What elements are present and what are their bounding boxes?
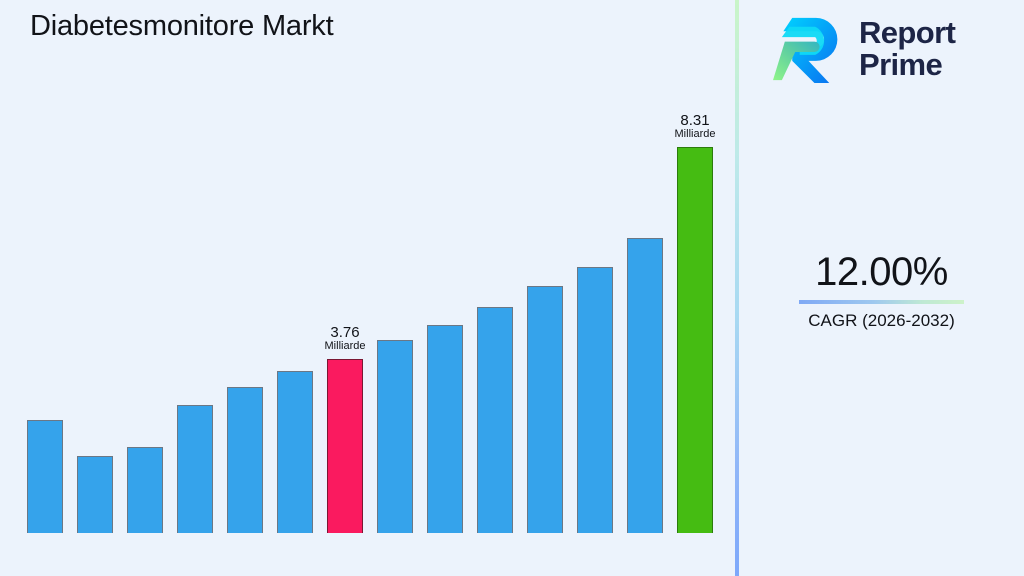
- bar-2023[interactable]: [277, 371, 313, 533]
- bar-slot-2028: [520, 120, 570, 533]
- chart-infographic: Diabetesmonitore Markt 3.76Milliarde8.31…: [0, 0, 1024, 576]
- bar-2018[interactable]: [27, 420, 63, 533]
- brand-name-line2: Prime: [859, 49, 955, 81]
- cagr-caption: CAGR (2026-2032): [739, 311, 1024, 331]
- bar-2029[interactable]: [577, 267, 613, 533]
- brand-panel: Report Prime 12.00% CAGR (2026-2032): [739, 0, 1024, 576]
- bar-label-unit-2024: Milliarde: [320, 341, 370, 353]
- bar-slot-2021: [170, 120, 220, 533]
- report-prime-logo-icon: [773, 12, 847, 86]
- bar-label-value-2024: 3.76: [320, 325, 370, 341]
- bar-slot-2023: [270, 120, 320, 533]
- bar-label-2031: 8.31Milliarde: [670, 113, 720, 141]
- bar-2027[interactable]: [477, 307, 513, 533]
- bar-label-unit-2031: Milliarde: [670, 129, 720, 141]
- bar-2022[interactable]: [227, 387, 263, 533]
- bar-2024[interactable]: [327, 359, 363, 533]
- bar-2026[interactable]: [427, 325, 463, 533]
- bar-slot-2019: [70, 120, 120, 533]
- brand-name: Report Prime: [859, 17, 955, 80]
- bar-slot-2030: [620, 120, 670, 533]
- bar-slot-2026: [420, 120, 470, 533]
- bar-slot-2031: 8.31Milliarde: [670, 120, 720, 533]
- bar-2021[interactable]: [177, 405, 213, 533]
- bar-2019[interactable]: [77, 456, 113, 533]
- bar-2028[interactable]: [527, 286, 563, 533]
- bar-2025[interactable]: [377, 340, 413, 533]
- brand-logo: Report Prime: [773, 12, 955, 86]
- cagr-block: 12.00% CAGR (2026-2032): [739, 250, 1024, 331]
- bars-container: 3.76Milliarde8.31Milliarde: [20, 120, 722, 533]
- bar-2030[interactable]: [627, 238, 663, 533]
- bar-slot-2024: 3.76Milliarde: [320, 120, 370, 533]
- bar-label-2024: 3.76Milliarde: [320, 325, 370, 353]
- bar-label-value-2031: 8.31: [670, 113, 720, 129]
- bar-slot-2029: [570, 120, 620, 533]
- bar-2020[interactable]: [127, 447, 163, 533]
- bar-slot-2022: [220, 120, 270, 533]
- brand-name-line1: Report: [859, 17, 955, 49]
- bar-slot-2018: [20, 120, 70, 533]
- bar-chart-plot: 3.76Milliarde8.31Milliarde 2018201920202…: [0, 120, 735, 535]
- cagr-divider-rule: [799, 300, 964, 304]
- bar-slot-2027: [470, 120, 520, 533]
- bar-slot-2020: [120, 120, 170, 533]
- bar-2031[interactable]: [677, 147, 713, 533]
- cagr-value: 12.00%: [739, 250, 1024, 294]
- chart-panel: Diabetesmonitore Markt 3.76Milliarde8.31…: [0, 0, 735, 576]
- bar-slot-2025: [370, 120, 420, 533]
- page-title: Diabetesmonitore Markt: [30, 10, 333, 43]
